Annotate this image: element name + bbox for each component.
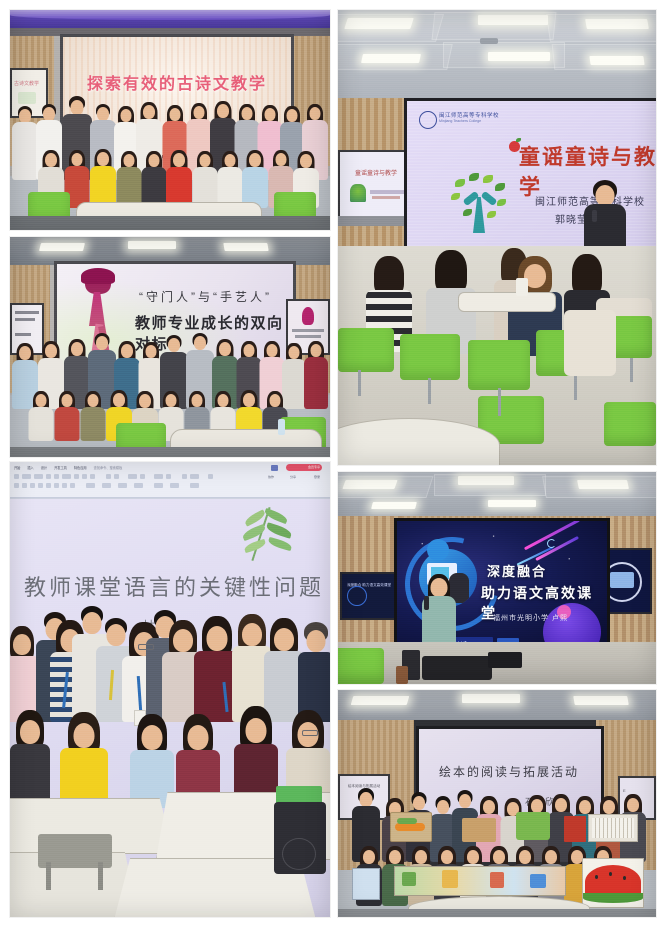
- toolbar-row-1[interactable]: [14, 474, 213, 479]
- toolbar-row-2[interactable]: [14, 483, 199, 488]
- photo-tongyao-lecture[interactable]: 童谣童诗与教学 闽江师范高等专科学校 Minjiang Teachers Col…: [338, 10, 656, 465]
- screen-title-huiben: 绘本的阅读与拓展活动: [439, 763, 579, 780]
- side-screen-text: 童谣童诗与教学: [342, 168, 410, 177]
- menu-item[interactable]: 开发工具: [54, 465, 67, 470]
- side-screen: 童谣童诗与教学: [338, 150, 414, 220]
- tree-icon: [449, 173, 511, 233]
- screen-title-line1: “守门人”与“手艺人”: [139, 288, 272, 305]
- photo-gushiwen-group[interactable]: 探索有效的古诗文教学 古诗文教学: [10, 10, 330, 230]
- side-screen: 深度融合 助力语文高效课堂: [340, 572, 398, 620]
- screen-logo-text: 闽江师范高等专科学校: [439, 111, 499, 119]
- search-placeholder[interactable]: 查找命令、搜索模板: [94, 465, 123, 470]
- side-screen-text: 古诗文教学: [14, 80, 44, 87]
- crocodile-poster: [390, 812, 432, 842]
- watermelon-poster: [582, 858, 644, 908]
- toolbar-right-label[interactable]: 分享: [290, 475, 296, 479]
- green-craft: [516, 812, 550, 840]
- cardboard-castle: [462, 818, 496, 842]
- app-icon: [271, 465, 278, 471]
- photo-shoumenren-group[interactable]: “守门人”与“手艺人” 教师专业成长的双向对标: [10, 237, 330, 457]
- picture-book: [352, 868, 380, 900]
- keyboard-poster: [588, 814, 638, 842]
- photo-huiben-group[interactable]: 绘本的阅读与拓展活动 石文欣 绘本阅读与拓展活动 E: [338, 690, 656, 917]
- photo-collage: 探索有效的古诗文教学 古诗文教学: [0, 0, 665, 925]
- screen-logo-icon: [419, 111, 437, 129]
- leaf-branch-icon: [230, 506, 304, 568]
- menu-item[interactable]: 特色应用: [74, 465, 87, 470]
- photo-keyu-yuyan-group[interactable]: 开始 插入 设计 开发工具 特色应用 查找命令、搜索模板 会员专享: [10, 462, 330, 917]
- picture-book: [564, 816, 586, 842]
- microphone-icon: [424, 596, 429, 610]
- menu-item[interactable]: 插入: [27, 465, 33, 470]
- member-badge-label: 会员专享: [308, 465, 320, 469]
- wps-toolbar[interactable]: 开始 插入 设计 开发工具 特色应用 查找命令、搜索模板 会员专享: [10, 462, 330, 499]
- screen-presenter: 福州市光明小学 卢熙: [493, 613, 568, 623]
- screen-title-line1: 深度融合: [487, 561, 547, 580]
- menu-item[interactable]: 设计: [41, 465, 47, 470]
- menu-bar[interactable]: 开始 插入 设计 开发工具 特色应用 查找命令、搜索模板: [14, 465, 122, 470]
- menu-item[interactable]: 开始: [14, 465, 20, 470]
- toolbar-right-label[interactable]: 登录: [314, 475, 320, 479]
- screen-logo-subtext: Minjiang Teachers College: [439, 119, 481, 123]
- photo-shendu-ronghe-speaker[interactable]: 深度融合 助力语文高效课堂: [338, 472, 656, 684]
- toolbar-right-label[interactable]: 协作: [268, 475, 274, 479]
- screen-title-gushiwen: 探索有效的古诗文教学: [63, 70, 291, 94]
